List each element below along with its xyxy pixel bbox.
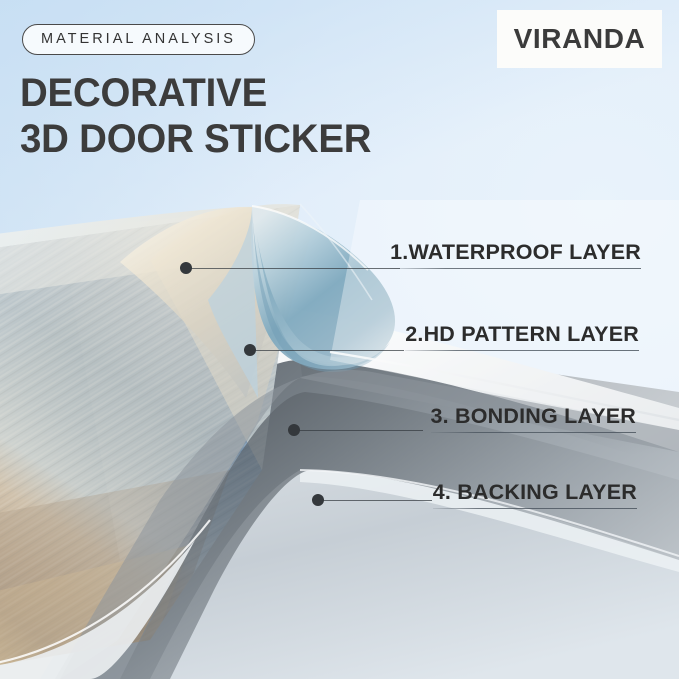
callout-underline <box>405 350 639 351</box>
leader-line-hd-pattern <box>254 350 404 351</box>
callout-dot-hd-pattern <box>244 344 256 356</box>
callout-dot-bonding <box>288 424 300 436</box>
callout-underline <box>433 508 637 509</box>
brand-logo-box: VIRANDA <box>497 10 662 68</box>
callout-waterproof-label: 1.WATERPROOF LAYER <box>390 240 641 264</box>
callout-backing-label: 4. BACKING LAYER <box>433 480 637 504</box>
callout-dot-backing <box>312 494 324 506</box>
callout-bonding-label: 3. BONDING LAYER <box>431 404 637 428</box>
brand-logo-text: VIRANDA <box>514 23 646 55</box>
title-line-1: DECORATIVE <box>20 70 371 116</box>
poster-canvas: MATERIAL ANALYSIS VIRANDA DECORATIVE 3D … <box>0 0 679 679</box>
callout-backing-layer: 4. BACKING LAYER <box>433 480 637 509</box>
title-line-2: 3D DOOR STICKER <box>20 116 371 162</box>
callout-underline <box>431 432 637 433</box>
leader-line-bonding <box>298 430 423 431</box>
leader-line-waterproof <box>190 268 400 269</box>
page-title: DECORATIVE 3D DOOR STICKER <box>20 70 371 163</box>
callout-underline <box>390 268 641 269</box>
leader-line-backing <box>322 500 432 501</box>
callout-hd-pattern-label: 2.HD PATTERN LAYER <box>405 322 639 346</box>
callout-waterproof-layer: 1.WATERPROOF LAYER <box>390 240 641 269</box>
callout-bonding-layer: 3. BONDING LAYER <box>431 404 637 433</box>
callout-hd-pattern-layer: 2.HD PATTERN LAYER <box>405 322 639 351</box>
material-analysis-badge: MATERIAL ANALYSIS <box>22 24 255 55</box>
callout-dot-waterproof <box>180 262 192 274</box>
